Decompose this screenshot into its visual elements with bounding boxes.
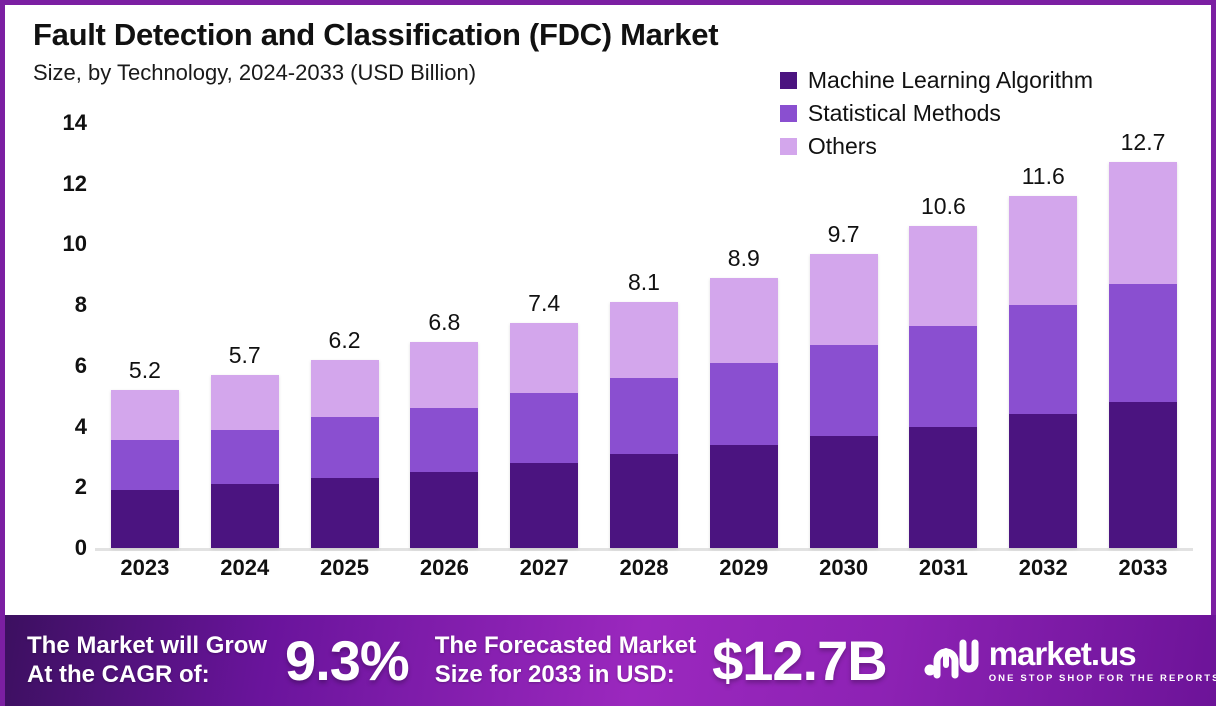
- bar-segment[interactable]: [211, 430, 279, 485]
- x-axis-tick-label: 2027: [495, 555, 594, 581]
- bar-segment[interactable]: [710, 445, 778, 548]
- forecast-block: The Forecasted Market Size for 2033 in U…: [435, 628, 887, 693]
- x-axis-tick-label: 2025: [295, 555, 394, 581]
- stacked-bar[interactable]: [909, 226, 977, 548]
- bar-segment[interactable]: [510, 323, 578, 393]
- bar-segment[interactable]: [610, 454, 678, 548]
- bar-segment[interactable]: [710, 363, 778, 445]
- bar-segment[interactable]: [410, 472, 478, 548]
- bar-segment[interactable]: [211, 375, 279, 430]
- bar-group[interactable]: 10.6: [894, 123, 993, 548]
- bar-group[interactable]: 5.2: [95, 123, 194, 548]
- bar-segment[interactable]: [710, 278, 778, 363]
- bar-segment[interactable]: [909, 226, 977, 326]
- stacked-bar[interactable]: [311, 360, 379, 548]
- bar-segment[interactable]: [1009, 305, 1077, 414]
- bar-segment[interactable]: [311, 478, 379, 548]
- bar-segment[interactable]: [1009, 196, 1077, 305]
- bar-segment[interactable]: [909, 427, 977, 548]
- x-axis-tick-label: 2032: [994, 555, 1093, 581]
- x-axis-tick-label: 2024: [195, 555, 294, 581]
- bar-segment[interactable]: [1009, 414, 1077, 548]
- bar-group[interactable]: 7.4: [495, 123, 594, 548]
- stacked-bar[interactable]: [1109, 162, 1177, 548]
- bar-total-label: 6.8: [395, 309, 494, 336]
- bar-group[interactable]: 6.2: [295, 123, 394, 548]
- bar-segment[interactable]: [410, 408, 478, 472]
- y-axis-tick-label: 6: [75, 353, 87, 379]
- bar-group[interactable]: 5.7: [195, 123, 294, 548]
- bar-group[interactable]: 9.7: [794, 123, 893, 548]
- bar-segment[interactable]: [1109, 284, 1177, 402]
- legend-swatch-icon: [780, 72, 797, 89]
- y-axis-tick-label: 8: [75, 292, 87, 318]
- bar-segment[interactable]: [510, 393, 578, 463]
- y-axis-tick-label: 12: [63, 171, 87, 197]
- legend-item[interactable]: Machine Learning Algorithm: [780, 67, 1093, 94]
- x-axis-tick-label: 2029: [694, 555, 793, 581]
- cagr-label: The Market will Grow At the CAGR of:: [27, 632, 267, 689]
- bar-group[interactable]: 8.1: [594, 123, 693, 548]
- y-axis-tick-label: 4: [75, 414, 87, 440]
- page-title: Fault Detection and Classification (FDC)…: [33, 17, 718, 53]
- bar-segment[interactable]: [111, 440, 179, 490]
- x-axis-tick-label: 2031: [894, 555, 993, 581]
- bar-segment[interactable]: [111, 490, 179, 548]
- cagr-label-line2: At the CAGR of:: [27, 661, 267, 689]
- bar-total-label: 7.4: [495, 290, 594, 317]
- stacked-bar[interactable]: [710, 278, 778, 548]
- chart-header: Fault Detection and Classification (FDC)…: [33, 17, 718, 86]
- bar-segment[interactable]: [810, 254, 878, 345]
- logo-name: market.us: [989, 637, 1216, 670]
- bar-total-label: 10.6: [894, 193, 993, 220]
- logo-tagline: ONE STOP SHOP FOR THE REPORTS: [989, 673, 1216, 684]
- y-axis-tick-label: 2: [75, 474, 87, 500]
- bar-total-label: 5.7: [195, 342, 294, 369]
- market-us-logo-text: market.us ONE STOP SHOP FOR THE REPORTS: [989, 637, 1216, 684]
- bar-segment[interactable]: [311, 417, 379, 478]
- bar-segment[interactable]: [1109, 162, 1177, 283]
- bar-segment[interactable]: [810, 345, 878, 436]
- y-axis-tick-label: 10: [63, 231, 87, 257]
- x-axis-baseline: [95, 548, 1193, 551]
- stacked-bar[interactable]: [211, 375, 279, 548]
- chart-subtitle: Size, by Technology, 2024-2033 (USD Bill…: [33, 60, 718, 86]
- bar-segment[interactable]: [909, 326, 977, 426]
- bar-group[interactable]: 8.9: [694, 123, 793, 548]
- bar-group[interactable]: 12.7: [1094, 123, 1193, 548]
- bar-segment[interactable]: [810, 436, 878, 548]
- bottom-banner: The Market will Grow At the CAGR of: 9.3…: [5, 615, 1216, 706]
- y-axis: 02468101214: [33, 123, 95, 548]
- y-axis-tick-label: 0: [75, 535, 87, 561]
- legend-item-label: Machine Learning Algorithm: [808, 67, 1093, 94]
- bar-series-container: 5.25.76.26.87.48.18.99.710.611.612.7: [95, 123, 1193, 548]
- x-axis-tick-label: 2033: [1094, 555, 1193, 581]
- stacked-bar[interactable]: [510, 323, 578, 548]
- bar-group[interactable]: 6.8: [395, 123, 494, 548]
- forecast-label-line2: Size for 2033 in USD:: [435, 661, 696, 689]
- market-us-logo[interactable]: market.us ONE STOP SHOP FOR THE REPORTS: [923, 637, 1216, 684]
- bar-total-label: 5.2: [95, 357, 194, 384]
- x-axis-tick-label: 2028: [594, 555, 693, 581]
- bar-segment[interactable]: [610, 302, 678, 378]
- bar-total-label: 12.7: [1094, 129, 1193, 156]
- stacked-bar[interactable]: [111, 390, 179, 548]
- plot-area: 02468101214 5.25.76.26.87.48.18.99.710.6…: [33, 123, 1193, 593]
- forecast-value: $12.7B: [712, 628, 887, 693]
- poster-frame: Fault Detection and Classification (FDC)…: [0, 0, 1216, 706]
- bar-total-label: 8.1: [594, 269, 693, 296]
- x-axis-tick-label: 2030: [794, 555, 893, 581]
- bar-segment[interactable]: [510, 463, 578, 548]
- bar-total-label: 11.6: [994, 163, 1093, 190]
- market-us-logo-icon: [923, 637, 979, 684]
- bar-total-label: 8.9: [694, 245, 793, 272]
- bar-segment[interactable]: [610, 378, 678, 454]
- stacked-bar[interactable]: [1009, 196, 1077, 548]
- bar-segment[interactable]: [311, 360, 379, 418]
- bar-segment[interactable]: [111, 390, 179, 440]
- stacked-bar[interactable]: [810, 254, 878, 548]
- x-axis-tick-label: 2023: [95, 555, 194, 581]
- bar-segment[interactable]: [1109, 402, 1177, 548]
- y-axis-tick-label: 14: [63, 110, 87, 136]
- stacked-bar[interactable]: [610, 302, 678, 548]
- bar-total-label: 9.7: [794, 221, 893, 248]
- cagr-label-line1: The Market will Grow: [27, 632, 267, 660]
- bar-segment[interactable]: [211, 484, 279, 548]
- bar-total-label: 6.2: [295, 327, 394, 354]
- stacked-bar[interactable]: [410, 342, 478, 548]
- x-axis: 2023202420252026202720282029203020312032…: [95, 555, 1193, 581]
- forecast-label: The Forecasted Market Size for 2033 in U…: [435, 632, 696, 689]
- x-axis-tick-label: 2026: [395, 555, 494, 581]
- bar-group[interactable]: 11.6: [994, 123, 1093, 548]
- cagr-value: 9.3%: [285, 628, 409, 693]
- forecast-label-line1: The Forecasted Market: [435, 632, 696, 660]
- bar-segment[interactable]: [410, 342, 478, 409]
- legend-swatch-icon: [780, 105, 797, 122]
- cagr-block: The Market will Grow At the CAGR of: 9.3…: [27, 628, 409, 693]
